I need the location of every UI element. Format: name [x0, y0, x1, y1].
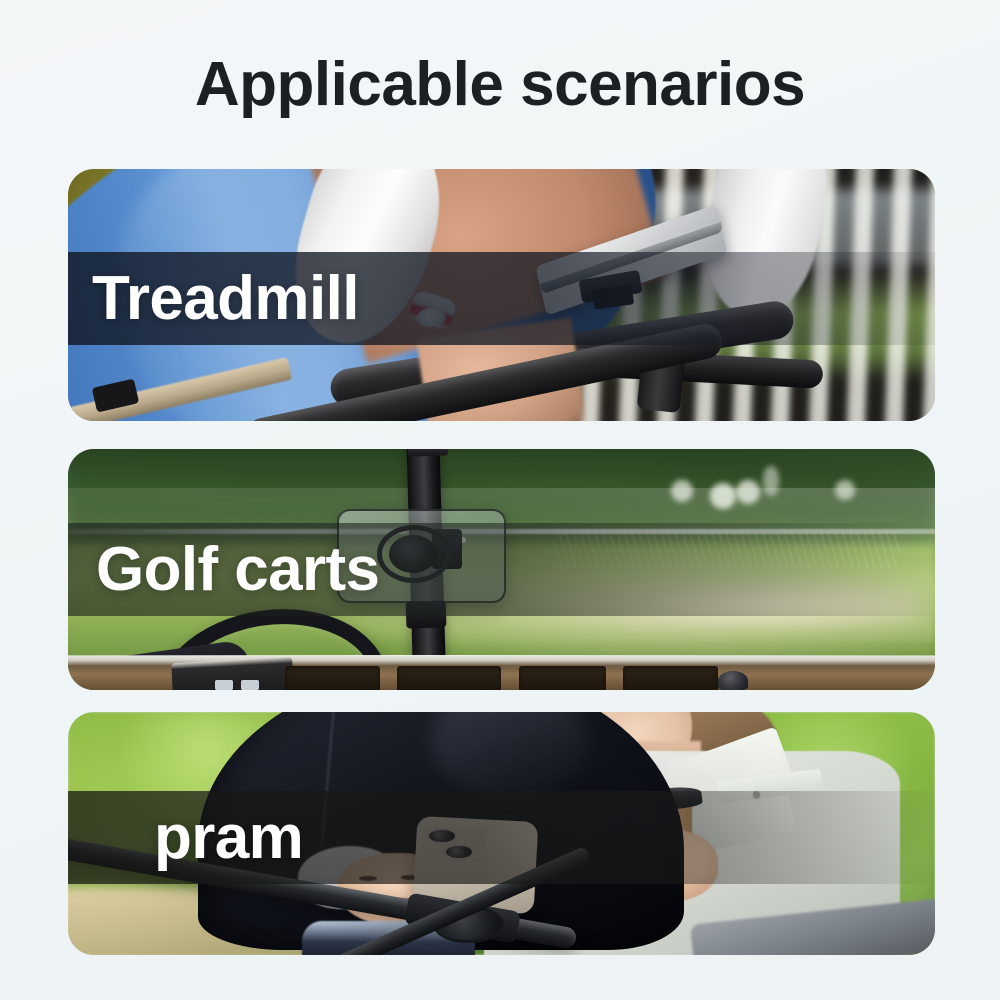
- pram-label-band: pram: [68, 791, 935, 884]
- scenario-label-golf-carts: Golf carts: [96, 539, 379, 601]
- dashboard-compartment: [397, 666, 501, 690]
- scenario-label-pram: pram: [154, 807, 303, 869]
- scenario-card-golf-carts[interactable]: Golf carts: [68, 449, 935, 690]
- scenario-card-treadmill[interactable]: Treadmill: [68, 169, 935, 421]
- scenario-card-pram[interactable]: pram: [68, 712, 935, 955]
- treadmill-label-band: Treadmill: [68, 252, 935, 345]
- dashboard-knob: [718, 671, 747, 690]
- scenario-label-treadmill: Treadmill: [92, 268, 359, 330]
- dashboard-compartment: [285, 666, 380, 690]
- golf-carts-label-band: Golf carts: [68, 523, 935, 616]
- scenario-showcase-page: Applicable scenarios: [0, 0, 1000, 1000]
- dashboard-switch: [241, 680, 258, 690]
- dashboard-left-panel: [171, 657, 294, 690]
- dashboard-compartment: [623, 666, 718, 690]
- dashboard-switch: [215, 680, 232, 690]
- page-title: Applicable scenarios: [0, 52, 1000, 117]
- dashboard-compartment: [519, 666, 606, 690]
